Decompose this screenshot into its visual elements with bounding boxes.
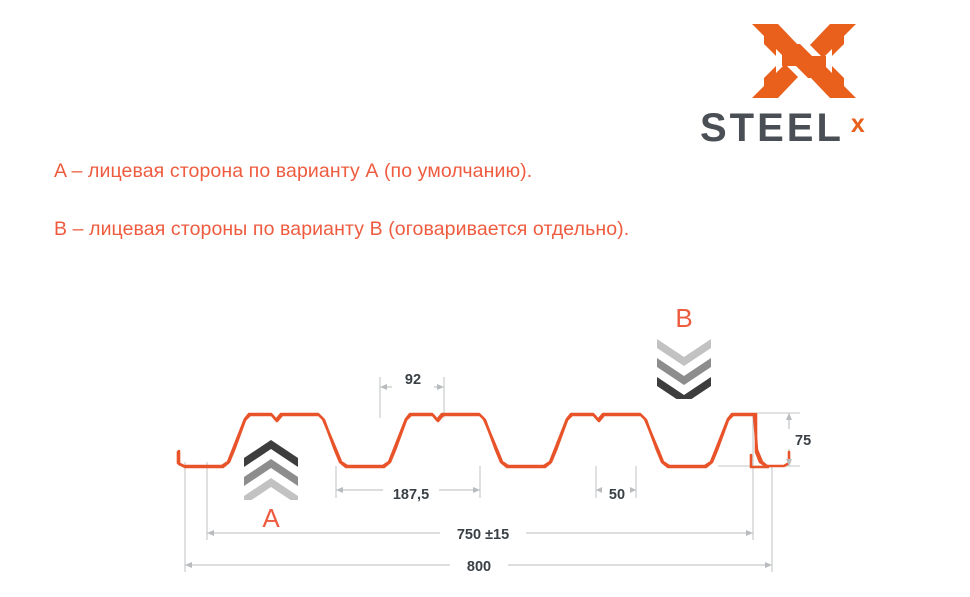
caption-variant-a: A – лицевая сторона по варианту А (по ум… xyxy=(54,160,532,183)
marker-a-letter: A xyxy=(240,505,302,531)
dimension-value-75: 75 xyxy=(795,433,811,449)
dimension-labels: 92 187,5 50 75 750 ±15 800 xyxy=(393,372,811,575)
brand-name-suffix: x xyxy=(851,112,865,137)
chevron-down-stack-icon xyxy=(653,337,715,399)
dimension-value-800: 800 xyxy=(467,559,491,575)
brand-name-main: STEEL xyxy=(700,108,844,148)
profile-right-end-lip xyxy=(751,415,768,467)
dimension-value-187: 187,5 xyxy=(393,487,429,503)
dimension-value-92: 92 xyxy=(405,372,421,388)
marker-b: B xyxy=(653,305,715,405)
dimension-value-750: 750 ±15 xyxy=(457,527,509,543)
chevron-up-stack-icon xyxy=(240,438,302,500)
marker-a: A xyxy=(240,438,302,538)
dimension-value-50: 50 xyxy=(609,487,625,503)
profile-datasheet-page: STEEL x A – лицевая сторона по варианту … xyxy=(0,0,970,597)
brand-logo: STEEL x xyxy=(700,22,930,142)
brand-wordmark: STEEL x xyxy=(700,108,930,148)
caption-variant-b: B – лицевая стороны по варианту B (огова… xyxy=(54,218,629,241)
dimension-label-masks xyxy=(383,372,808,575)
steelx-logo-icon xyxy=(752,22,856,100)
marker-b-letter: B xyxy=(653,305,715,331)
